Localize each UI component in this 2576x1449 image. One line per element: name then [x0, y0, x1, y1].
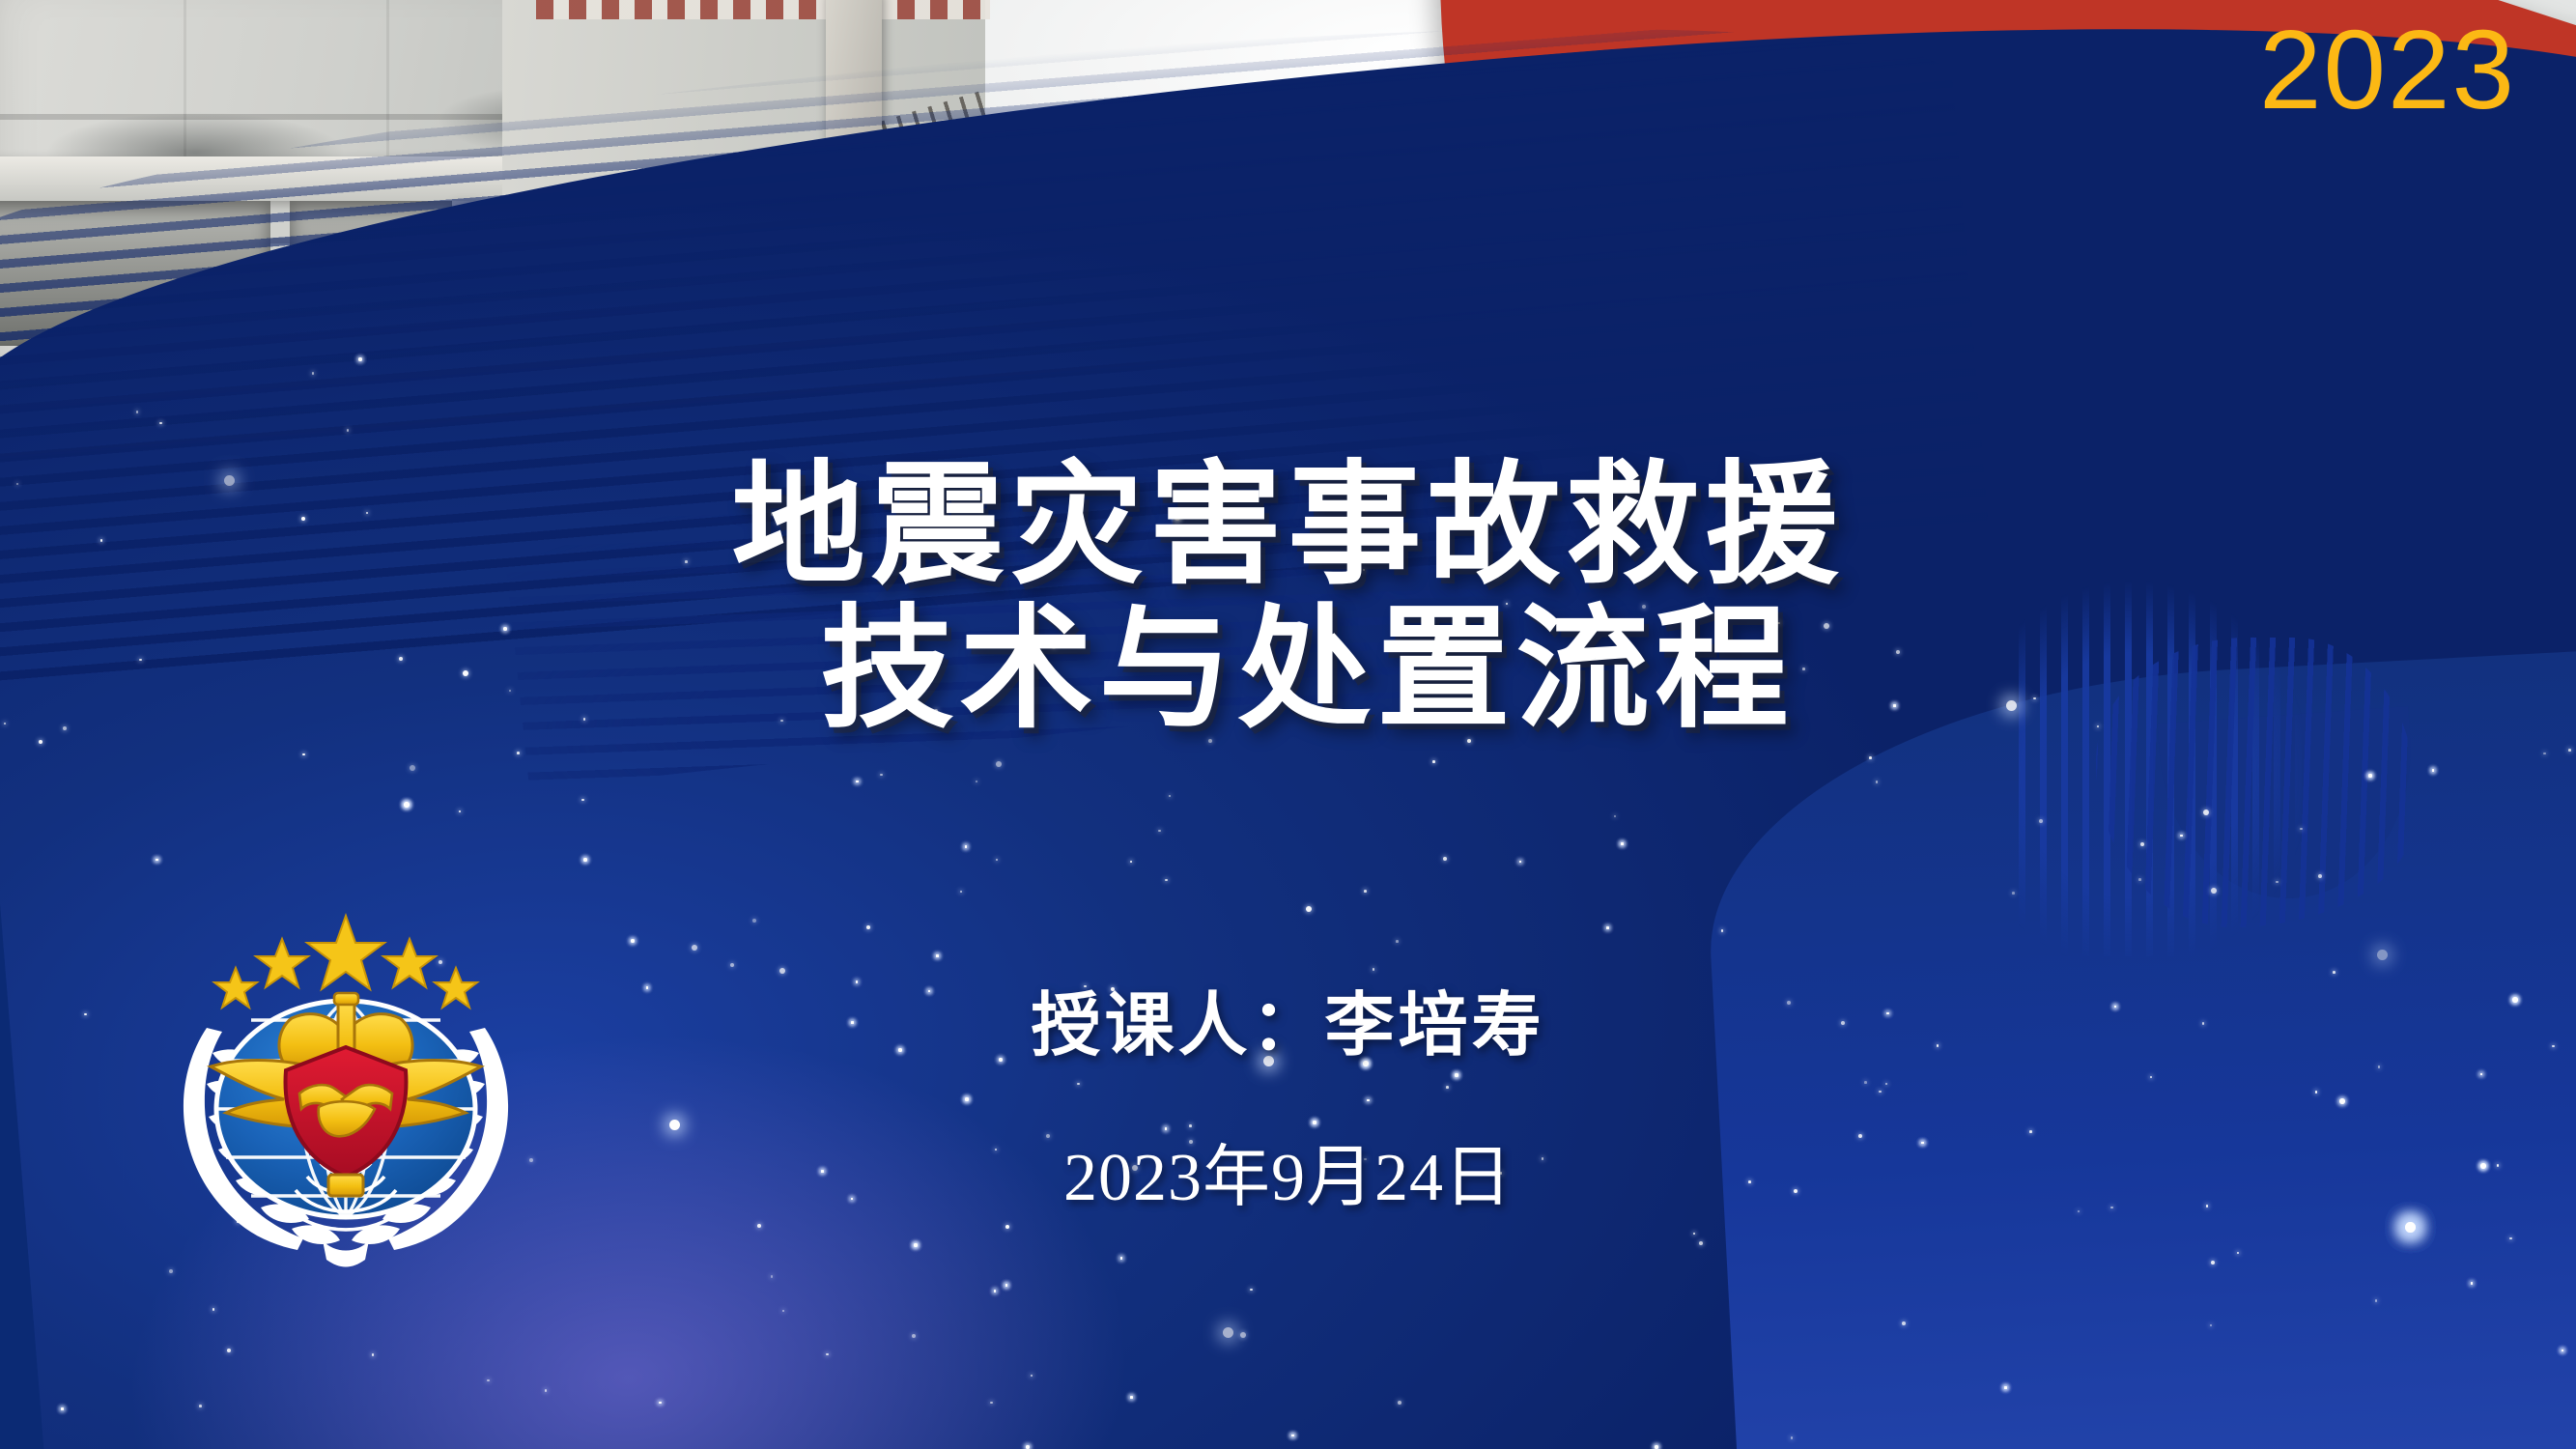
year-label: 2023: [2259, 14, 2516, 126]
date-label: 2023年9月24日: [0, 1122, 2576, 1220]
roof-frieze-left: [536, 0, 990, 19]
title-line-2: 技术与处置流程: [0, 598, 2576, 742]
presenter-label: 授课人：李培寿: [0, 968, 2576, 1069]
slide-title: 地震灾害事故救援 技术与处置流程: [0, 454, 2576, 742]
title-slide: 2023: [0, 0, 2576, 1449]
emergency-rescue-emblem: [143, 900, 549, 1287]
title-line-1: 地震灾害事故救援: [0, 454, 2576, 598]
